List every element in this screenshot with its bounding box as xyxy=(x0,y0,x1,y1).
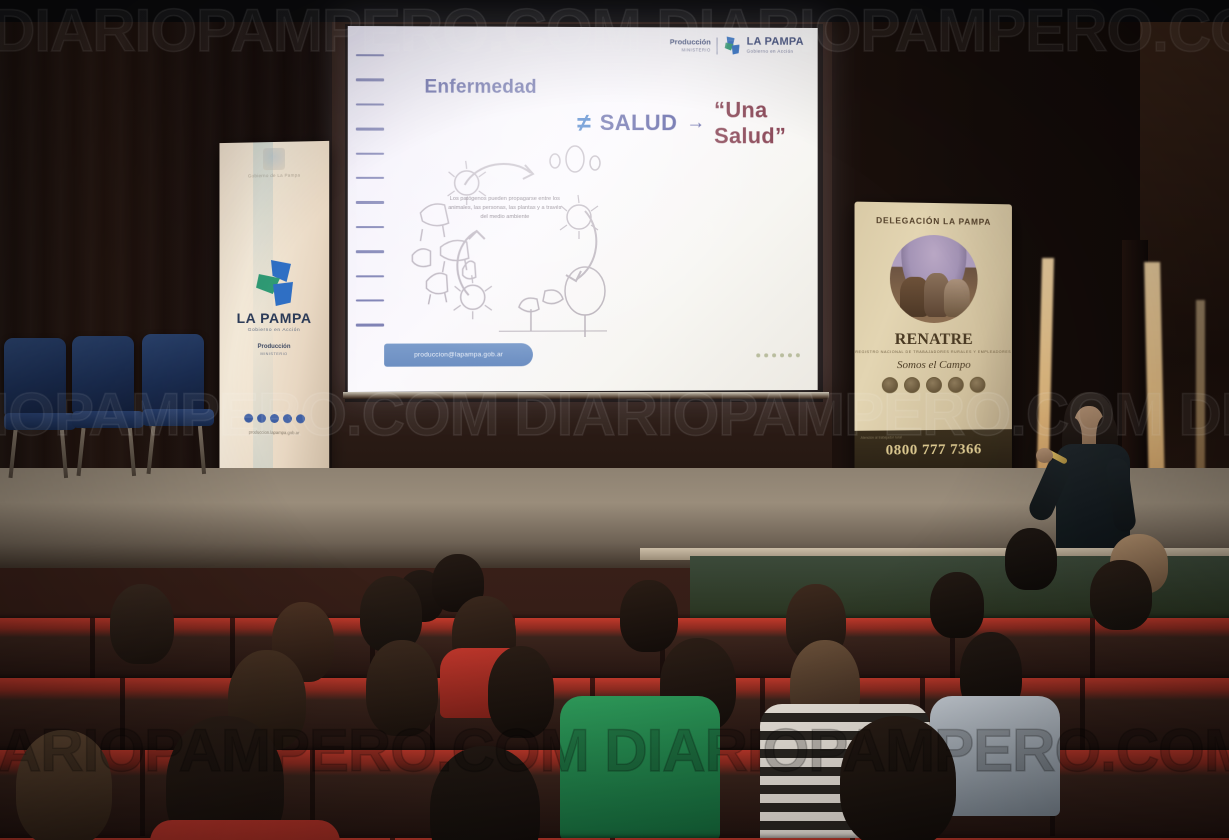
screen-ledge xyxy=(343,392,829,399)
audience-head xyxy=(16,730,112,840)
banner-la-pampa: Gobierno de La Pampa LA PAMPA Gobierno e… xyxy=(219,141,329,491)
stage-chair xyxy=(4,338,76,430)
slide-salud-word: SALUD xyxy=(600,110,678,136)
banner-left-ministry: Producción xyxy=(219,344,329,350)
pathogen-cycle-caption: Los patógenos pueden propagarse entre lo… xyxy=(445,195,565,223)
banner-left-seal: Gobierno de La Pampa xyxy=(219,147,329,179)
banner-right-brand: RENATRE xyxy=(855,331,1012,349)
badge-icon xyxy=(970,377,986,393)
slide-ruler-decoration xyxy=(356,54,384,356)
banner-left-government: Gobierno en Acción xyxy=(219,328,329,333)
slide-logo: Producción MINISTERIO LA PAMPA Gobierno … xyxy=(670,35,804,55)
audience-head xyxy=(620,580,678,652)
slide-una-salud: “Una Salud” xyxy=(714,97,818,149)
web-icon xyxy=(296,414,305,423)
slide-email-badge: produccion@lapampa.gob.ar xyxy=(384,343,533,367)
stage-chair xyxy=(142,334,214,426)
twitter-icon xyxy=(257,414,266,423)
banner-left-ministry-sub: MINISTERIO xyxy=(219,352,329,356)
banner-left-social-icons xyxy=(219,413,329,423)
banner-left-logo: LA PAMPA Gobierno en Acción Producción M… xyxy=(219,260,329,357)
stage-chair xyxy=(72,336,144,428)
banner-right-brand-sub: REGISTRO NACIONAL DE TRABAJADORES RURALE… xyxy=(855,350,1012,354)
badge-icon xyxy=(926,377,942,393)
presenter-hand xyxy=(1036,448,1053,463)
instagram-icon xyxy=(270,414,279,423)
letterbox-top xyxy=(0,0,1229,22)
slide-title: Enfermedad xyxy=(424,77,536,99)
logo-produccion-text: Producción xyxy=(670,38,711,46)
audience-head xyxy=(366,640,438,736)
banner-right-cattle-photo xyxy=(890,234,978,323)
facebook-icon xyxy=(244,414,253,423)
banner-right-icon-row xyxy=(855,377,1012,394)
logo-government-text: Gobierno en Acción xyxy=(747,50,804,55)
banner-left-province: LA PAMPA xyxy=(219,310,329,326)
logo-province-text: LA PAMPA xyxy=(747,37,804,48)
government-seal-icon xyxy=(263,148,285,170)
audience-head xyxy=(930,572,984,638)
seat-row xyxy=(0,618,1229,682)
slide-logo-lapampa: LA PAMPA Gobierno en Acción xyxy=(747,37,804,55)
badge-icon xyxy=(948,377,964,393)
slide-footer-dots xyxy=(756,353,800,357)
pathogen-cycle-diagram xyxy=(406,139,637,340)
projection-screen: Enfermedad ≠ SALUD → “Una Salud” Producc… xyxy=(348,26,818,392)
audience-head xyxy=(488,646,554,738)
not-equal-icon: ≠ xyxy=(577,110,591,135)
youtube-icon xyxy=(282,414,291,423)
badge-icon xyxy=(882,377,898,393)
audience-body xyxy=(560,696,720,840)
banner-right-slogan: Somos el Campo xyxy=(855,359,1012,371)
audience-body xyxy=(150,820,340,840)
banner-right-footer-top: Atención al trabajador rural xyxy=(861,435,902,439)
banner-right-heading: DELEGACIÓN LA PAMPA xyxy=(855,215,1012,227)
banner-left-seal-caption: Gobierno de La Pampa xyxy=(219,172,329,179)
banner-renatre: DELEGACIÓN LA PAMPA RENATRE REGISTRO NAC… xyxy=(855,202,1012,490)
slide-logo-produccion: Producción MINISTERIO xyxy=(670,38,711,52)
banner-right-phone: 0800 777 7366 xyxy=(855,441,1012,460)
photo-canvas: Enfermedad ≠ SALUD → “Una Salud” Producc… xyxy=(0,0,1229,840)
logo-ministerio-text: MINISTERIO xyxy=(670,48,711,52)
audience-head xyxy=(1005,528,1057,590)
audience-head xyxy=(1090,560,1152,630)
arrow-right-icon: → xyxy=(686,112,705,134)
la-pampa-map-icon xyxy=(253,260,295,306)
logo-divider xyxy=(717,37,718,54)
banner-left-url: produccion.lapampa.gob.ar xyxy=(219,429,329,435)
audience-area xyxy=(0,520,1229,840)
la-pampa-map-icon xyxy=(724,36,741,56)
badge-icon xyxy=(904,377,920,393)
audience-head xyxy=(110,584,174,664)
audience-head xyxy=(840,716,956,840)
slide-email-text: produccion@lapampa.gob.ar xyxy=(414,351,503,358)
